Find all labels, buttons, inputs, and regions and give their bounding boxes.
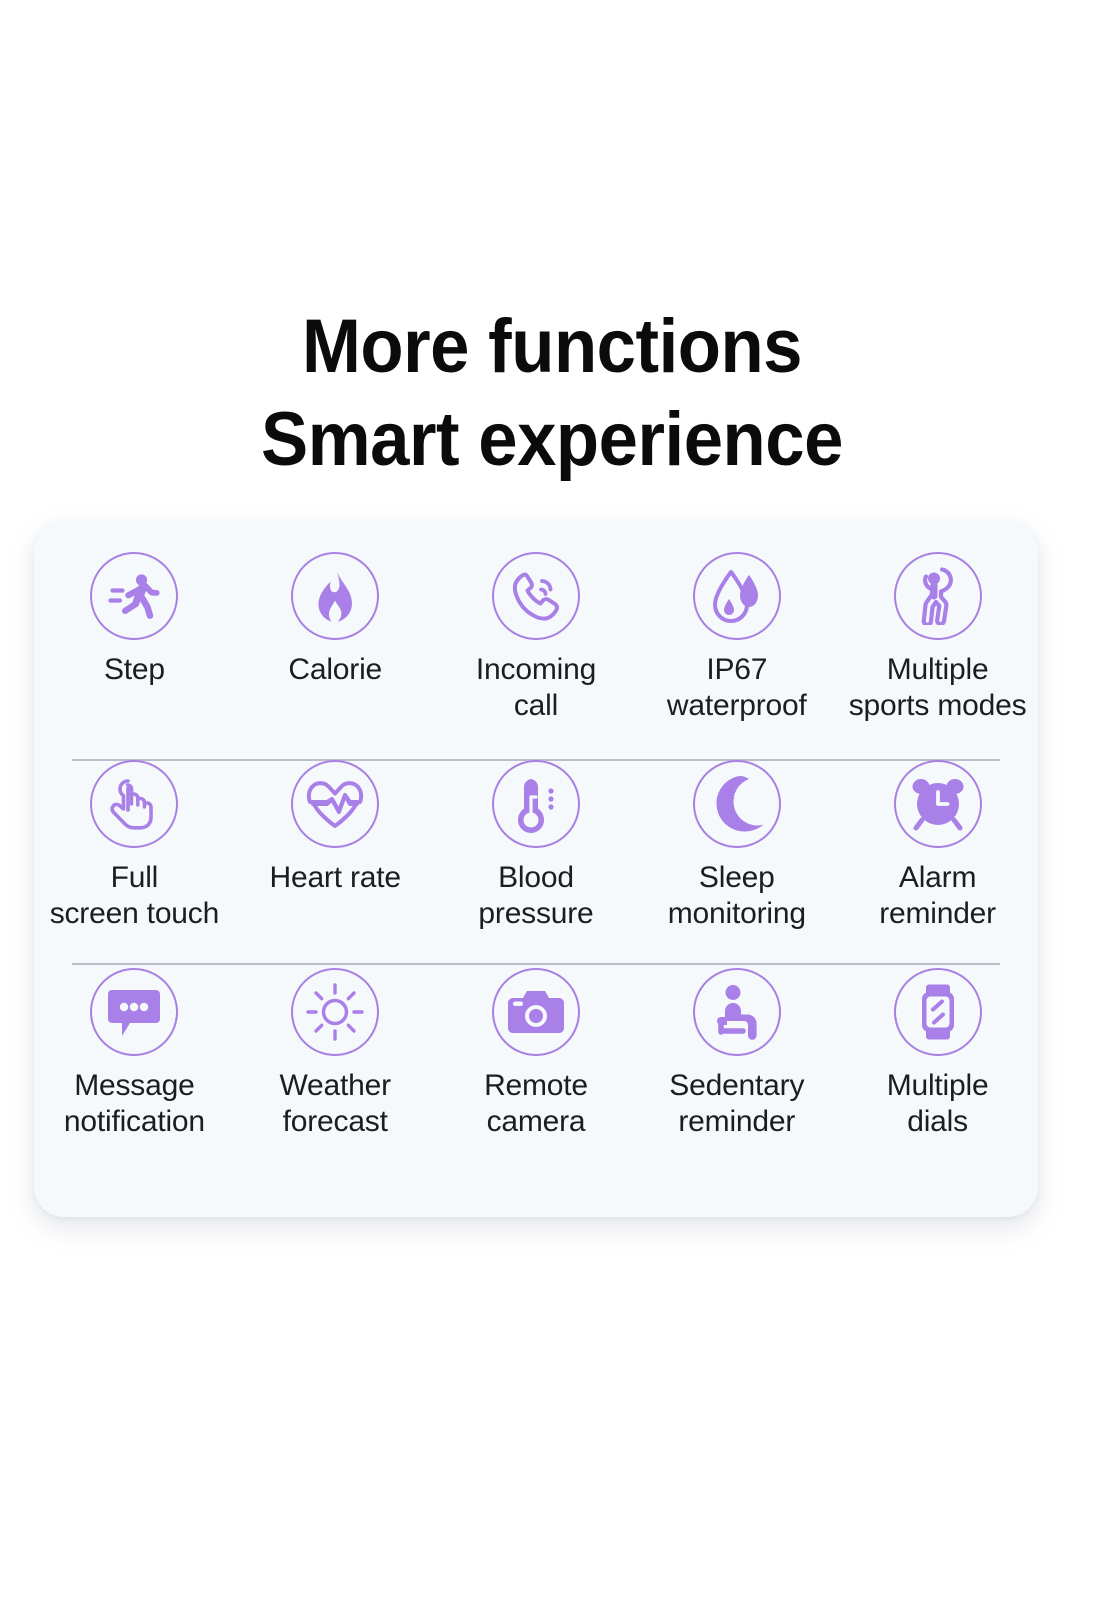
sun-icon: [291, 968, 379, 1056]
feature-label: Alarm reminder: [879, 860, 996, 932]
page-title-line-1: More functions: [39, 300, 1066, 393]
feature-item-multiple-dials[interactable]: Multiple dials: [837, 959, 1038, 1167]
sitting-person-icon: [693, 968, 781, 1056]
features-card: Step Calorie: [34, 521, 1038, 1217]
water-drop-icon: [693, 552, 781, 640]
feature-row: Message notification: [34, 959, 1038, 1167]
touch-hand-icon: [90, 760, 178, 848]
feature-item-alarm-reminder[interactable]: Alarm reminder: [837, 751, 1038, 959]
feature-item-sleep-monitoring[interactable]: Sleep monitoring: [636, 751, 837, 959]
feature-label: Multiple sports modes: [849, 652, 1027, 724]
running-person-icon: [90, 552, 178, 640]
smartwatch-icon: [894, 968, 982, 1056]
promo-page: More functions Smart experience: [0, 0, 1104, 1600]
feature-label: Sedentary reminder: [669, 1068, 804, 1140]
feature-row: Step Calorie: [34, 543, 1038, 751]
thermometer-icon: [492, 760, 580, 848]
stretching-person-icon: [894, 552, 982, 640]
feature-item-weather-forecast[interactable]: Weather forecast: [235, 959, 436, 1167]
feature-item-waterproof[interactable]: IP67 waterproof: [636, 543, 837, 751]
feature-label: Multiple dials: [887, 1068, 989, 1140]
feature-item-message-notification[interactable]: Message notification: [34, 959, 235, 1167]
feature-label: IP67 waterproof: [667, 652, 807, 724]
feature-item-incoming-call[interactable]: Incoming call: [436, 543, 637, 751]
flame-icon: [291, 552, 379, 640]
feature-item-calorie[interactable]: Calorie: [235, 543, 436, 751]
feature-item-heart-rate[interactable]: Heart rate: [235, 751, 436, 959]
feature-item-sports-modes[interactable]: Multiple sports modes: [837, 543, 1038, 751]
page-title: More functions Smart experience: [39, 300, 1066, 486]
alarm-clock-icon: [894, 760, 982, 848]
feature-label: Step: [104, 652, 165, 688]
feature-label: Heart rate: [270, 860, 401, 896]
feature-item-step[interactable]: Step: [34, 543, 235, 751]
feature-item-blood-pressure[interactable]: Blood pressure: [436, 751, 637, 959]
feature-label: Blood pressure: [478, 860, 593, 932]
feature-label: Message notification: [64, 1068, 205, 1140]
feature-item-sedentary-reminder[interactable]: Sedentary reminder: [636, 959, 837, 1167]
feature-label: Calorie: [288, 652, 382, 688]
camera-icon: [492, 968, 580, 1056]
feature-row: Full screen touch Heart rate: [34, 751, 1038, 959]
message-bubble-icon: [90, 968, 178, 1056]
page-title-line-2: Smart experience: [39, 393, 1066, 486]
phone-call-icon: [492, 552, 580, 640]
feature-item-remote-camera[interactable]: Remote camera: [436, 959, 637, 1167]
feature-label: Incoming call: [476, 652, 596, 724]
feature-label: Remote camera: [484, 1068, 588, 1140]
moon-stars-icon: [693, 760, 781, 848]
heart-pulse-icon: [291, 760, 379, 848]
feature-label: Full screen touch: [50, 860, 219, 932]
features-grid: Step Calorie: [34, 521, 1038, 1217]
feature-item-full-screen-touch[interactable]: Full screen touch: [34, 751, 235, 959]
feature-label: Weather forecast: [279, 1068, 390, 1140]
feature-label: Sleep monitoring: [668, 860, 806, 932]
